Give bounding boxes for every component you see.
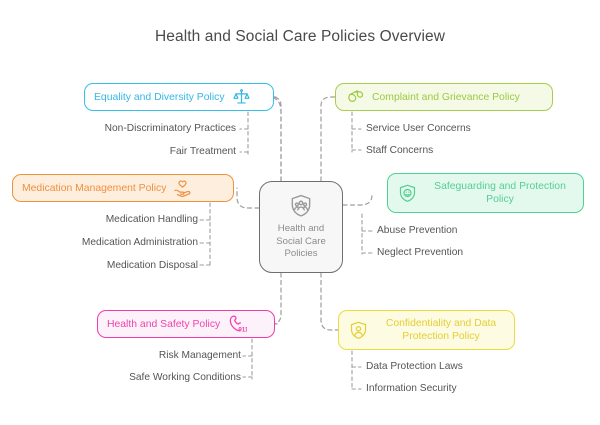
edge-medication-children (200, 203, 210, 267)
sub-item-neglect-prevention: Neglect Prevention (377, 246, 463, 259)
sub-item-medication-handling: Medication Handling (106, 213, 198, 226)
sub-item-safe-working-conditions: Safe Working Conditions (129, 371, 241, 384)
node-equality-label: Equality and Diversity Policy (94, 91, 225, 104)
node-safeguarding-and-protection-policy[interactable]: Safeguarding and Protection Policy (387, 173, 584, 213)
sub-item-data-protection-laws: Data Protection Laws (366, 360, 463, 373)
node-medication-management-policy[interactable]: Medication Management Policy (12, 174, 234, 202)
sub-item-non-discriminatory-practices: Non-Discriminatory Practices (105, 122, 236, 135)
sub-item-staff-concerns: Staff Concerns (366, 144, 433, 157)
edge-center-confidential (321, 273, 338, 330)
shield-face-icon (397, 183, 418, 204)
scales-weights-icon (345, 88, 364, 107)
page-title: Health and Social Care Policies Overview (0, 28, 600, 46)
node-confidential-label: Confidentiality and Data Protection Poli… (377, 317, 505, 343)
node-medication-label: Medication Management Policy (22, 182, 166, 195)
sub-item-abuse-prevention: Abuse Prevention (377, 224, 457, 237)
node-equality-and-diversity-policy[interactable]: Equality and Diversity Policy (84, 83, 274, 111)
node-confidentiality-and-data-protection-policy[interactable]: Confidentiality and Data Protection Poli… (338, 310, 515, 350)
edge-center-equality (268, 97, 281, 181)
center-node[interactable]: Health and Social Care Policies (259, 181, 343, 273)
node-complaint-label: Complaint and Grievance Policy (372, 91, 520, 104)
node-healthsafety-label: Health and Safety Policy (107, 318, 220, 331)
center-node-label: Health and Social Care Policies (276, 223, 326, 260)
svg-text:911: 911 (239, 326, 248, 333)
node-safeguard-label: Safeguarding and Protection Policy (426, 180, 574, 206)
emergency-call-911-icon: 911 (227, 314, 247, 334)
sub-item-service-user-concerns: Service User Concerns (366, 122, 471, 135)
sub-item-information-security: Information Security (366, 382, 457, 395)
edge-equality-children (240, 112, 248, 154)
node-complaint-and-grievance-policy[interactable]: Complaint and Grievance Policy (335, 83, 553, 111)
sub-item-fair-treatment: Fair Treatment (170, 145, 236, 158)
edge-center-medication (237, 188, 259, 208)
edge-center-equality-b (272, 97, 281, 181)
shield-people-icon (288, 193, 314, 219)
edge-healthsafety-children (243, 339, 252, 379)
edge-center-complaint (321, 97, 335, 181)
node-health-and-safety-policy[interactable]: Health and Safety Policy 911 (97, 310, 275, 338)
edge-center-safeguard (343, 193, 372, 205)
mindmap-canvas: Health and Social Care Policies Overview… (0, 0, 600, 425)
sub-item-risk-management: Risk Management (159, 349, 241, 362)
shield-person-icon (348, 320, 369, 341)
edge-confidential-children (352, 351, 361, 390)
sub-item-medication-disposal: Medication Disposal (107, 259, 198, 272)
scales-balance-icon (232, 88, 251, 107)
edge-safeguard-children (362, 214, 372, 254)
hand-heart-icon (173, 179, 192, 198)
edge-complaint-children (352, 112, 361, 152)
sub-item-medication-administration: Medication Administration (82, 236, 198, 249)
